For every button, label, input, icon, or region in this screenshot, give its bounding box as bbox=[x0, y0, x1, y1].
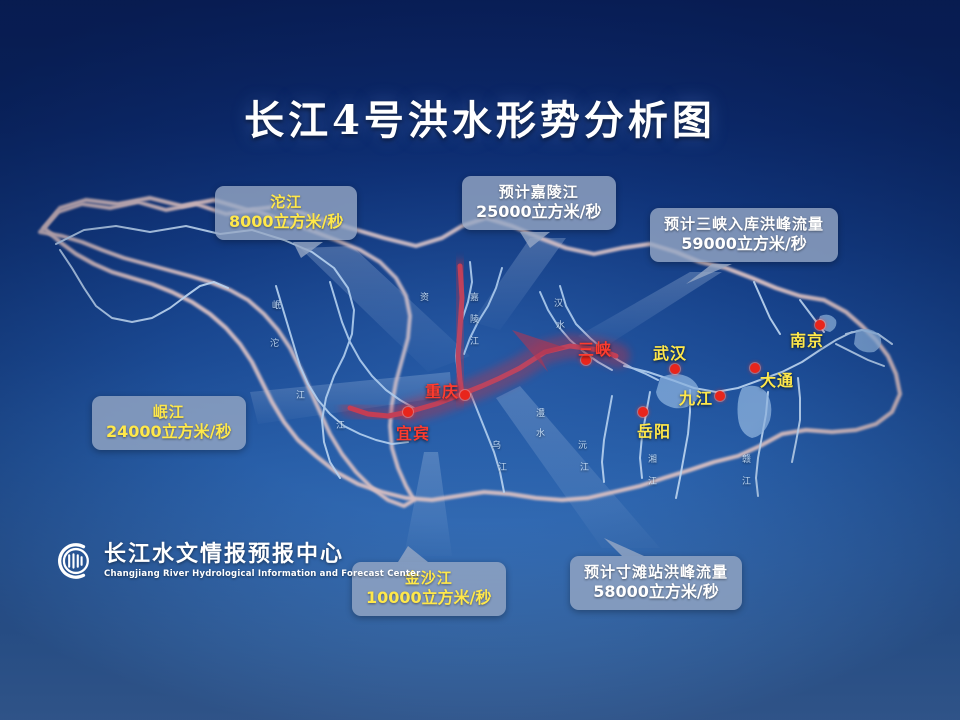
river-glyph: 湘 bbox=[648, 452, 657, 465]
callout-tail-icon bbox=[686, 264, 732, 286]
callout-tail-icon bbox=[604, 538, 644, 558]
upper-basin-outline bbox=[40, 202, 414, 506]
river-glyph: 澧 bbox=[536, 406, 545, 419]
river-glyph: 资 bbox=[420, 290, 429, 303]
city-dot-yibin[interactable] bbox=[403, 407, 413, 417]
callout-minjiang-value: 24000立方米/秒 bbox=[106, 422, 232, 442]
callout-jialingjiang-value: 25000立方米/秒 bbox=[476, 202, 602, 222]
river-glyph: 水 bbox=[536, 426, 545, 439]
river-glyph: 江 bbox=[648, 474, 657, 487]
callout-minjiang-title: 岷江 bbox=[106, 403, 232, 422]
organization-logo: 长江水文情报预报中心 Changjiang River Hydrological… bbox=[52, 540, 421, 582]
river-glyph: 江 bbox=[498, 460, 507, 473]
river-glyph: 水 bbox=[556, 318, 565, 331]
city-label-datong[interactable]: 大通 bbox=[760, 367, 794, 391]
river-glyph: 江 bbox=[296, 388, 305, 401]
page-title: 长江4号洪水形势分析图 bbox=[0, 88, 960, 146]
callout-minjiang[interactable]: 岷江 24000立方米/秒 bbox=[92, 396, 246, 450]
callout-sanxia-inflow[interactable]: 预计三峡入库洪峰流量 59000立方米/秒 bbox=[650, 208, 838, 262]
city-label-yueyang[interactable]: 岳阳 bbox=[637, 418, 671, 442]
city-label-sanxia[interactable]: 三峡 bbox=[578, 336, 612, 360]
city-label-chongqing[interactable]: 重庆 bbox=[425, 378, 459, 402]
city-label-jiujiang[interactable]: 九江 bbox=[679, 385, 713, 409]
callout-sanxia-inflow-value: 59000立方米/秒 bbox=[664, 234, 824, 254]
city-dot-wuhan[interactable] bbox=[670, 364, 680, 374]
tributary-network bbox=[56, 226, 892, 498]
city-label-yibin[interactable]: 宜宾 bbox=[396, 420, 430, 444]
callout-sanxia-inflow-title: 预计三峡入库洪峰流量 bbox=[664, 215, 824, 234]
city-dot-yueyang[interactable] bbox=[638, 407, 648, 417]
callout-tuojiang-value: 8000立方米/秒 bbox=[229, 212, 343, 232]
logo-name-en: Changjiang River Hydrological Informatio… bbox=[104, 569, 421, 579]
river-glyph: 嘉 bbox=[470, 290, 479, 303]
callout-jialingjiang-title: 预计嘉陵江 bbox=[476, 183, 602, 202]
river-glyph: 沅 bbox=[578, 438, 587, 451]
city-label-wuhan[interactable]: 武汉 bbox=[653, 340, 687, 364]
city-dot-jiujiang[interactable] bbox=[715, 391, 725, 401]
city-dot-chongqing[interactable] bbox=[460, 390, 470, 400]
river-glyph: 江 bbox=[742, 474, 751, 487]
callout-tail-icon bbox=[293, 242, 329, 260]
city-dot-datong[interactable] bbox=[750, 363, 760, 373]
river-glyph: 汉 bbox=[554, 296, 563, 309]
river-glyph: 沱 bbox=[270, 336, 279, 349]
river-glyph: 江 bbox=[336, 418, 345, 431]
poster-canvas: 长江4号洪水形势分析图 沱江 8000立方米/秒 预计嘉陵江 25000立方米/… bbox=[0, 0, 960, 720]
circle-wave-logo-icon bbox=[52, 540, 94, 582]
river-glyph: 岷 bbox=[272, 298, 281, 311]
city-label-nanjing[interactable]: 南京 bbox=[790, 327, 824, 351]
callout-tuojiang[interactable]: 沱江 8000立方米/秒 bbox=[215, 186, 357, 240]
callout-jialingjiang[interactable]: 预计嘉陵江 25000立方米/秒 bbox=[462, 176, 616, 230]
callout-jinshajiang-value: 10000立方米/秒 bbox=[366, 588, 492, 608]
callout-cuntan-value: 58000立方米/秒 bbox=[584, 582, 728, 602]
river-glyph: 赣 bbox=[742, 452, 751, 465]
callout-tail-icon bbox=[520, 232, 556, 250]
river-glyph: 江 bbox=[580, 460, 589, 473]
logo-name-cn: 长江水文情报预报中心 bbox=[104, 543, 421, 567]
callout-cuntan-title: 预计寸滩站洪峰流量 bbox=[584, 563, 728, 582]
river-glyph: 乌 bbox=[492, 438, 501, 451]
river-glyph: 江 bbox=[470, 334, 479, 347]
callout-tuojiang-title: 沱江 bbox=[229, 193, 343, 212]
callout-cuntan[interactable]: 预计寸滩站洪峰流量 58000立方米/秒 bbox=[570, 556, 742, 610]
river-glyph: 陵 bbox=[470, 312, 479, 325]
